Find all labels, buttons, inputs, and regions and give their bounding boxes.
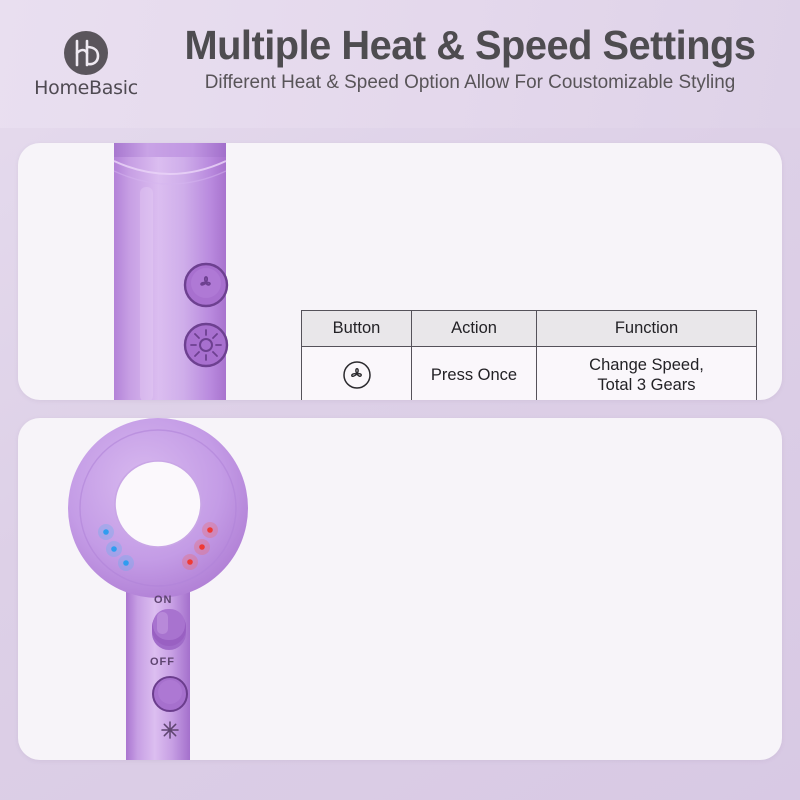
table-header-row: Button Action Function <box>302 311 757 347</box>
column-header-action: Action <box>412 311 537 347</box>
panel-buttons-card: Button Action Function Press <box>18 143 782 400</box>
page-subtitle: Different Heat & Speed Option Allow For … <box>160 69 781 95</box>
cool-shot-button-on-product[interactable] <box>150 674 190 714</box>
table-row: Press Once Change Speed, Total 3 Gears <box>302 347 757 401</box>
hair-dryer-handle-illustration <box>76 143 266 400</box>
cell-function: Change Speed, Total 3 Gears <box>537 347 757 401</box>
cell-button-icon-fan <box>302 347 412 401</box>
column-header-button: Button <box>302 311 412 347</box>
heat-button-on-product-icon[interactable] <box>182 321 230 369</box>
button-function-table: Button Action Function Press <box>301 310 757 400</box>
on-off-slider-switch[interactable] <box>148 608 190 654</box>
speed-button-on-product-icon[interactable] <box>182 261 230 309</box>
page-header: HomeBasic Multiple Heat & Speed Settings… <box>0 0 800 128</box>
panel-indicators-card: ON OFF Indicator Function <box>18 418 782 760</box>
fan-speed-icon <box>341 359 373 391</box>
brand-logo: HomeBasic <box>22 30 150 108</box>
switch-label-off: OFF <box>150 656 175 668</box>
snowflake-icon <box>158 718 182 742</box>
column-header-function: Function <box>537 311 757 347</box>
product-image-handle <box>18 143 283 400</box>
switch-label-on: ON <box>154 594 173 606</box>
cell-action: Press Once <box>412 347 537 401</box>
page-title: Multiple Heat & Speed Settings <box>160 22 781 68</box>
homebasic-monogram-icon <box>63 30 109 76</box>
product-image-head: ON OFF <box>18 418 283 760</box>
brand-name: HomeBasic <box>34 77 138 99</box>
header-title-block: Multiple Heat & Speed Settings Different… <box>150 22 790 95</box>
